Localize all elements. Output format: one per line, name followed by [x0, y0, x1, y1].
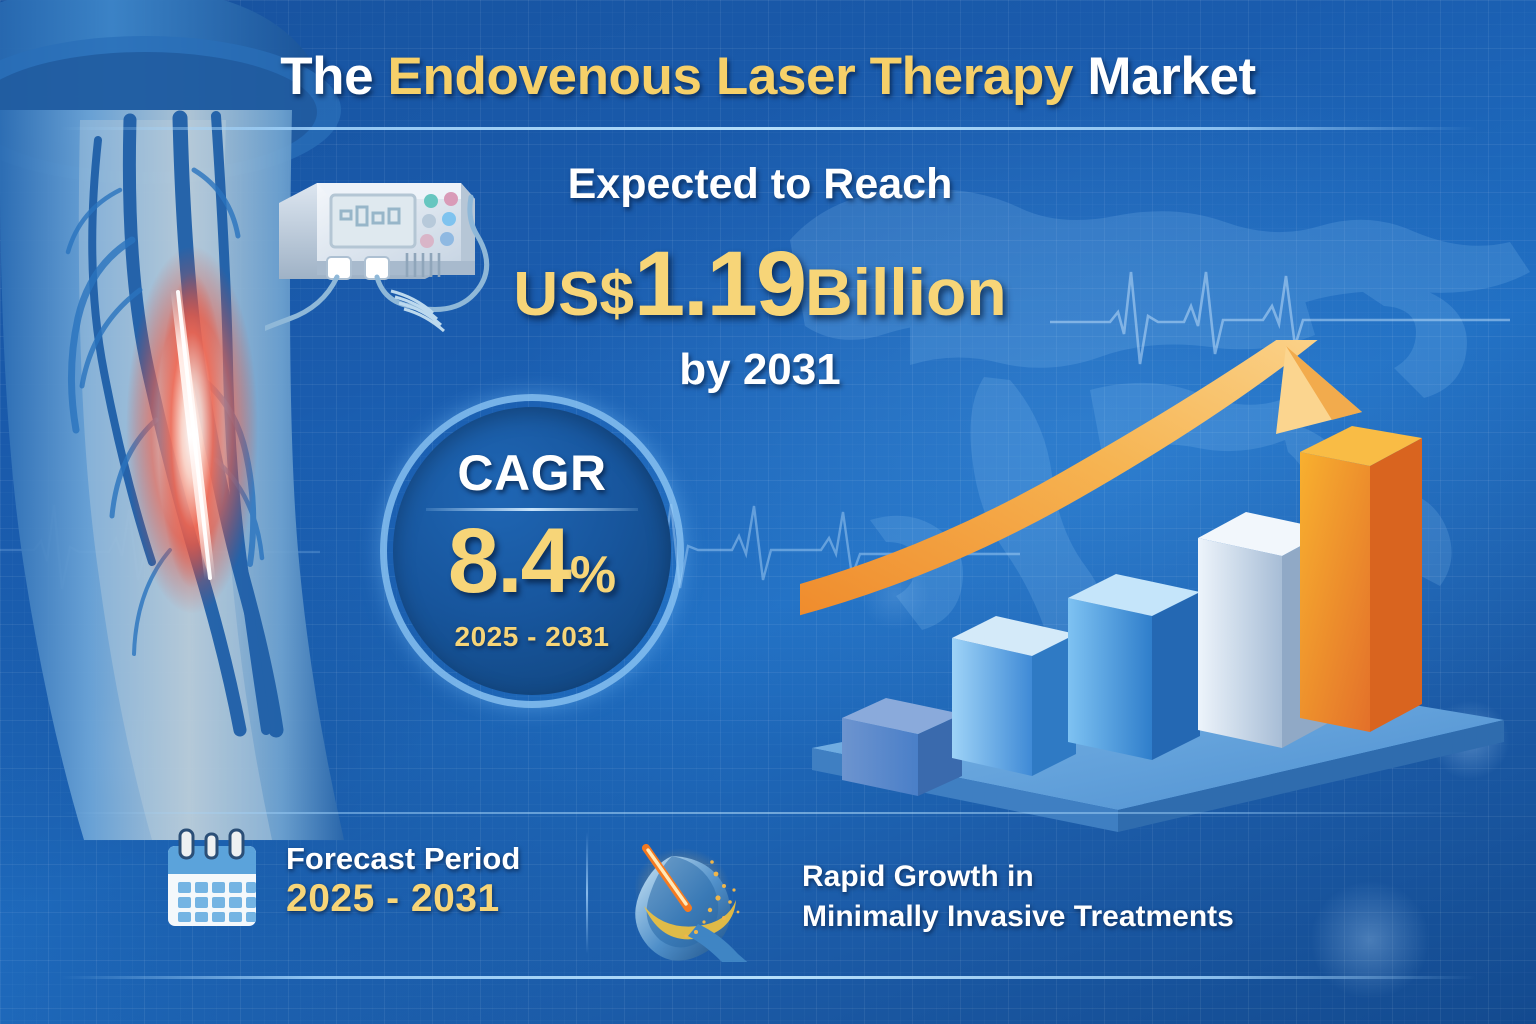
bar-chart-3d	[800, 340, 1520, 870]
bar-5-highlight	[1300, 426, 1422, 732]
title-highlight: Endovenous Laser Therapy	[388, 47, 1073, 106]
bokeh-dot	[1310, 880, 1430, 1000]
market-value-number: 1.19	[634, 233, 805, 335]
laser-fiber-icon	[620, 832, 780, 962]
forecast-period-value: 2025 - 2031	[286, 876, 520, 923]
market-value-headline: US$1.19Billion	[330, 232, 1190, 337]
forecast-period-text: Forecast Period 2025 - 2031	[286, 841, 520, 923]
cagr-number: 8.4	[448, 510, 570, 612]
market-value-unit: Billion	[805, 255, 1007, 329]
page-title: The Endovenous Laser Therapy Market	[0, 46, 1536, 107]
infographic-canvas: The Endovenous Laser Therapy Market Expe…	[0, 0, 1536, 1024]
forecast-period-label: Forecast Period	[286, 841, 520, 877]
cagr-disc: CAGR 8.4% 2025 - 2031	[393, 407, 671, 695]
growth-driver-line2: Minimally Invasive Treatments	[802, 897, 1234, 937]
cagr-label: CAGR	[457, 444, 606, 502]
cagr-value: 8.4%	[448, 515, 616, 607]
target-year-label: by 2031	[330, 345, 1190, 395]
footer-vertical-divider	[586, 832, 588, 954]
growth-driver-item: Rapid Growth in Minimally Invasive Treat…	[620, 832, 1234, 962]
cagr-badge: CAGR 8.4% 2025 - 2031	[380, 394, 684, 708]
forecast-period-item: Forecast Period 2025 - 2031	[160, 828, 520, 936]
cagr-period: 2025 - 2031	[455, 621, 610, 653]
title-suffix: Market	[1073, 47, 1256, 106]
growth-driver-text: Rapid Growth in Minimally Invasive Treat…	[802, 857, 1234, 936]
currency-symbol: US$	[513, 260, 634, 329]
footer-bottom-divider	[60, 976, 1476, 979]
growth-driver-line1: Rapid Growth in	[802, 857, 1234, 897]
cagr-percent-sign: %	[570, 546, 616, 604]
expected-to-reach-label: Expected to Reach	[330, 160, 1190, 209]
calendar-icon	[160, 828, 264, 936]
bar-1	[842, 698, 962, 796]
bar-3	[1068, 574, 1200, 760]
bar-2	[952, 616, 1076, 776]
title-prefix: The	[280, 47, 387, 106]
